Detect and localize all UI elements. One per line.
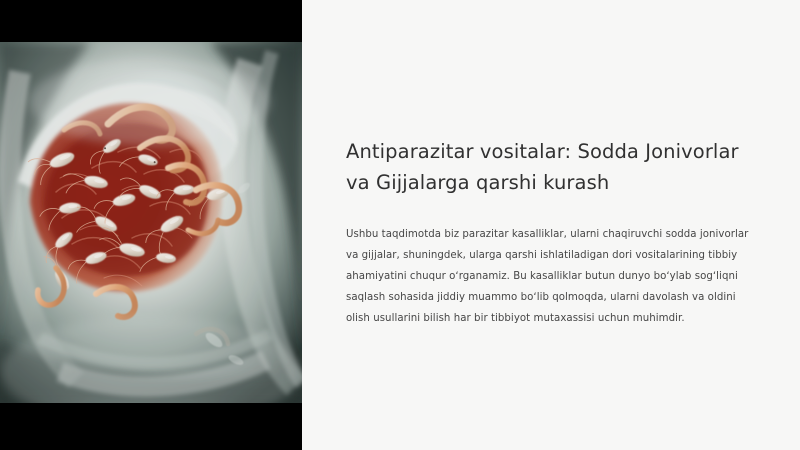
slide-text-panel: Antiparazitar vositalar: Sodda Jonivorla…	[346, 0, 758, 450]
presentation-slide: Antiparazitar vositalar: Sodda Jonivorla…	[0, 0, 800, 450]
slide-image-panel	[0, 0, 302, 450]
slide-body-text: Ushbu taqdimotda biz parazitar kasallikl…	[346, 224, 754, 329]
intestinal-lumen-graphic	[0, 42, 302, 403]
letterbox-bar-top	[0, 0, 302, 42]
letterbox-bar-bottom	[0, 403, 302, 450]
slide-title: Antiparazitar vositalar: Sodda Jonivorla…	[346, 136, 758, 198]
parasite-illustration	[0, 42, 302, 403]
